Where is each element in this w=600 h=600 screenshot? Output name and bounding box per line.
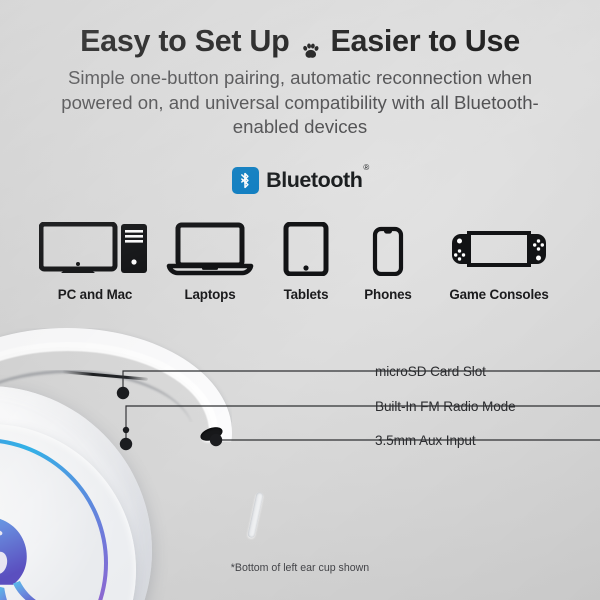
headline-part-1: Easy to Set Up	[80, 24, 289, 59]
callout-label-microsd: microSD Card Slot	[375, 364, 486, 379]
bluetooth-wordmark: Bluetooth®	[266, 168, 368, 193]
device-item-game-consoles: Game Consoles	[424, 222, 574, 302]
subheadline: Simple one-button pairing, automatic rec…	[30, 66, 570, 140]
registered-trademark: ®	[363, 163, 368, 172]
device-item-laptops: Laptops	[150, 222, 270, 302]
device-label: Phones	[338, 287, 438, 302]
device-item-phones: Phones	[338, 222, 438, 302]
product-image-headphone	[0, 332, 304, 600]
smartphone-icon	[338, 222, 438, 276]
callout-label-aux: 3.5mm Aux Input	[375, 433, 476, 448]
headline-part-2: Easier to Use	[331, 24, 520, 59]
octopus-icon	[0, 496, 58, 600]
bluetooth-lockup: Bluetooth®	[0, 167, 600, 194]
bluetooth-icon	[232, 167, 259, 194]
product-infographic: Easy to Set Up Easier to Use Simple one-…	[0, 0, 600, 600]
side-button	[247, 492, 263, 538]
device-label: Game Consoles	[424, 287, 574, 302]
device-compatibility-row: PC and Mac Laptops Tablets	[0, 222, 600, 312]
game-console-icon	[424, 222, 574, 276]
paw-print-icon	[301, 33, 320, 52]
laptop-icon	[150, 222, 270, 276]
page-title: Easy to Set Up Easier to Use	[0, 24, 600, 59]
device-label: Laptops	[150, 287, 270, 302]
callout-label-fm-radio: Built-In FM Radio Mode	[375, 399, 516, 414]
footnote: *Bottom of left ear cup shown	[0, 562, 600, 574]
